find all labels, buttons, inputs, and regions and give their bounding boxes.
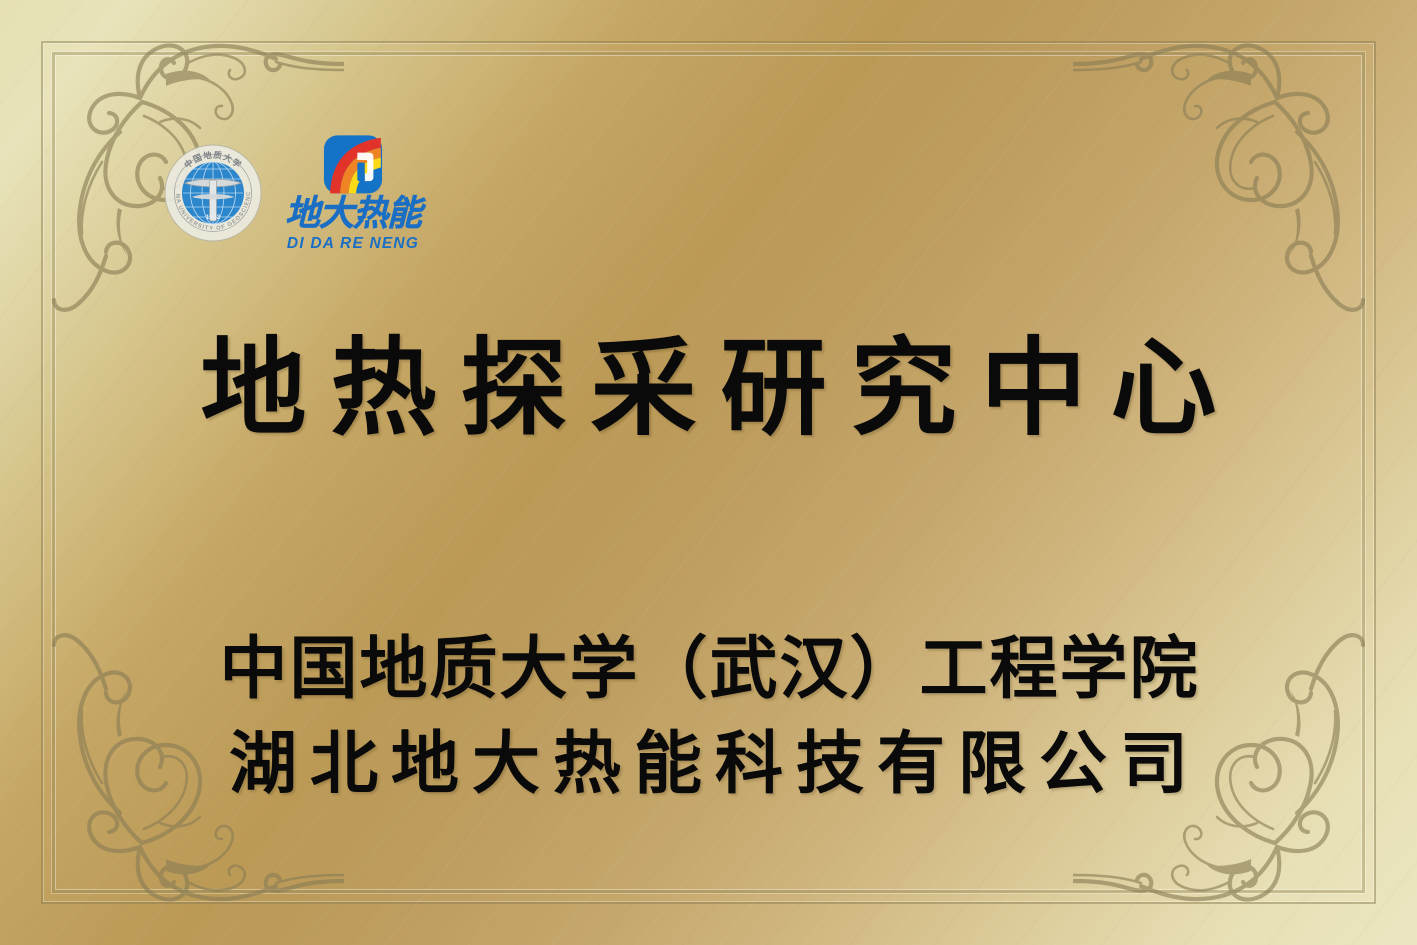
- plaque-headline: 地热探采研究中心: [0, 330, 1417, 449]
- seal-founded-year: 1952: [206, 214, 221, 221]
- didareneng-rainbow-mark-icon: [319, 134, 387, 196]
- corner-flourish-top-right: [1073, 12, 1403, 312]
- award-plaque: 中国地质大学 CHINA UNIVERSITY OF GEOSCIENCES: [0, 0, 1417, 945]
- logo-row: 中国地质大学 CHINA UNIVERSITY OF GEOSCIENCES: [163, 134, 421, 252]
- company-logo: 地大热能 DI DA RE NENG: [285, 134, 421, 252]
- company-name-pinyin: DI DA RE NENG: [287, 236, 419, 252]
- plaque-subtitle-line-2: 湖北地大热能科技有限公司: [0, 717, 1417, 812]
- plaque-subtitle-line-1: 中国地质大学（武汉）工程学院: [0, 622, 1417, 717]
- plaque-subtitle-block: 中国地质大学（武汉）工程学院 湖北地大热能科技有限公司: [0, 622, 1417, 812]
- university-seal-logo: 中国地质大学 CHINA UNIVERSITY OF GEOSCIENCES: [163, 143, 263, 243]
- flourish-scrollwork-icon: [1073, 45, 1363, 309]
- company-name-cn: 地大热能: [285, 197, 421, 232]
